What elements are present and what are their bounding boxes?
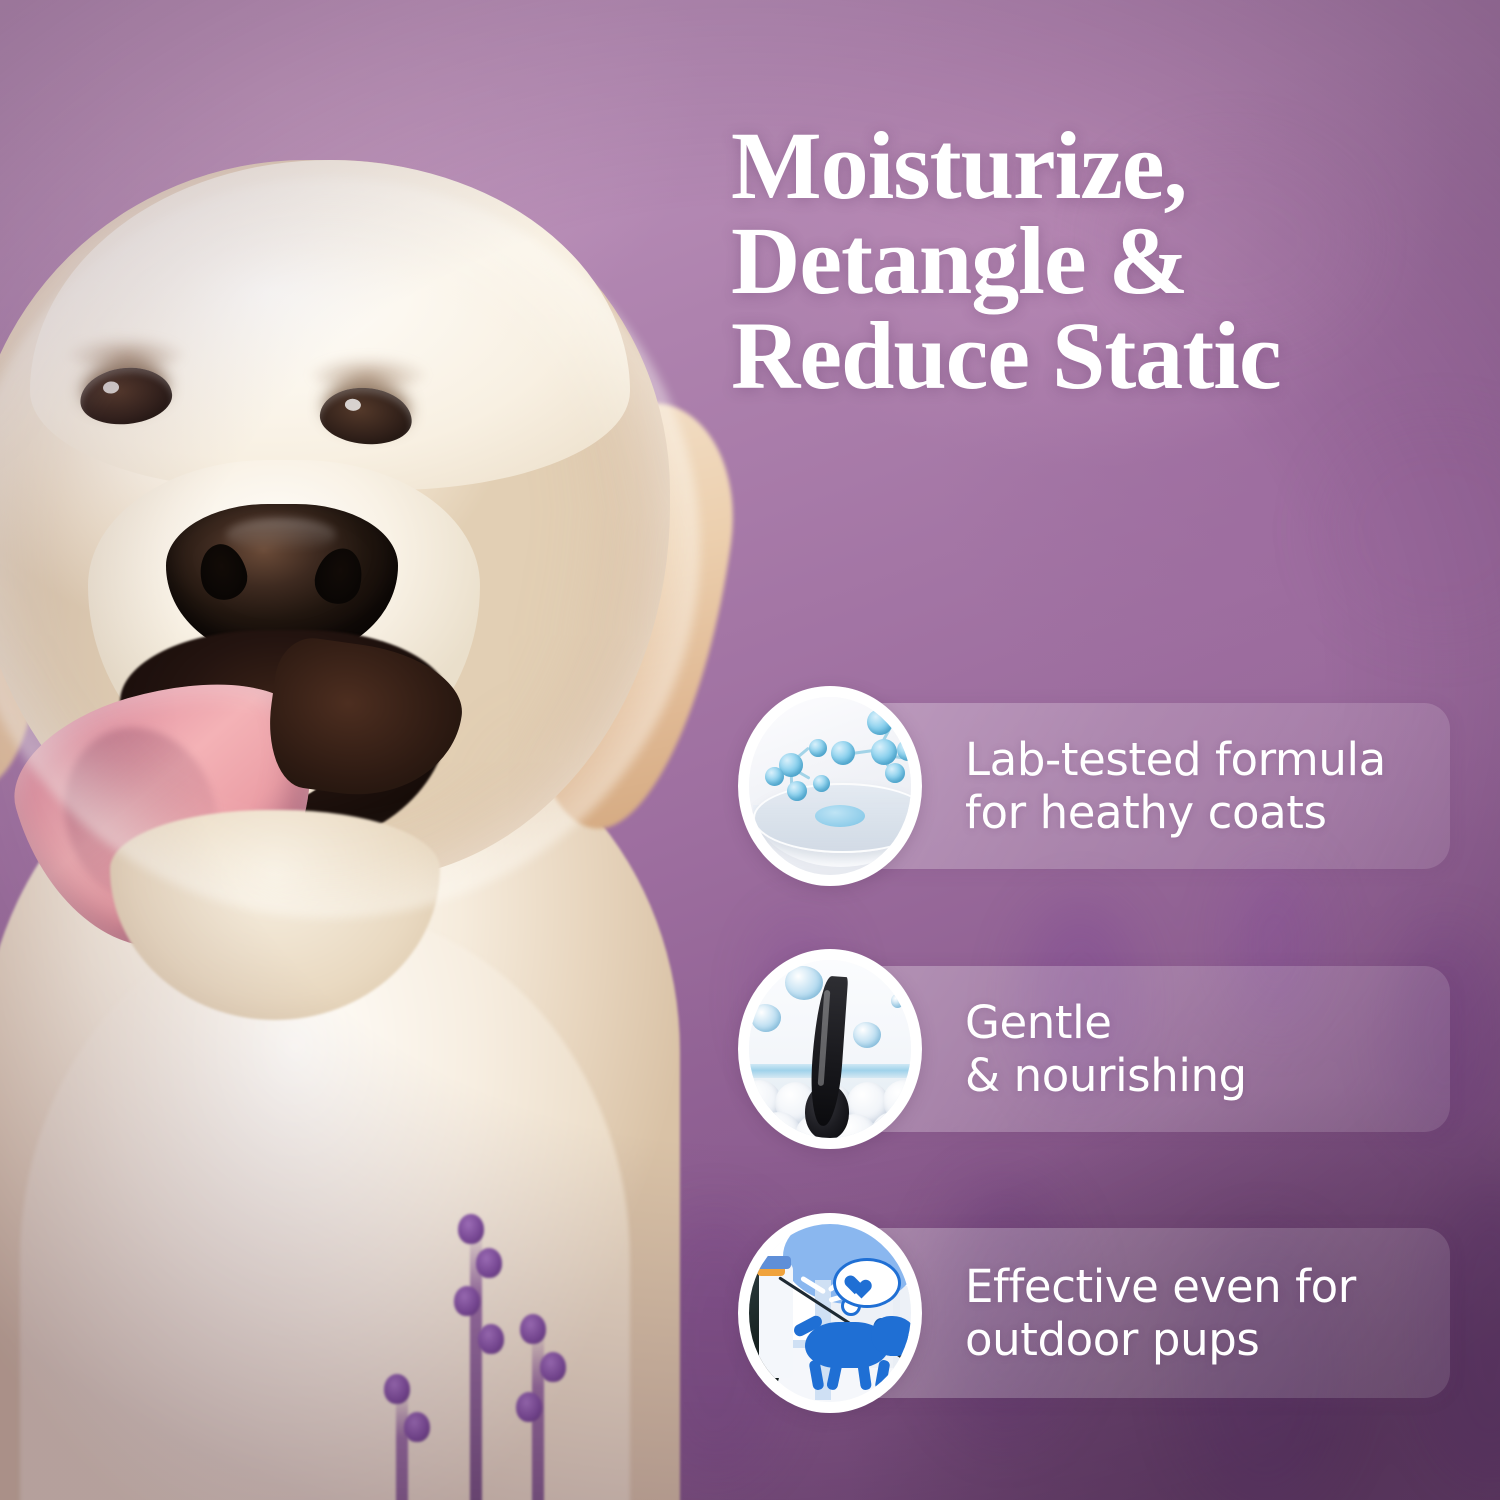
petri-dish-molecule-icon	[738, 686, 922, 886]
headline-line-1: Moisturize,	[731, 118, 1491, 213]
feature-label-line-1: Effective even for	[965, 1260, 1356, 1313]
feature-item-outdoor: Effective even for outdoor pups	[738, 1212, 1450, 1414]
walking-dog-icon	[793, 1316, 911, 1388]
feature-label-outdoor: Effective even for outdoor pups	[965, 1260, 1356, 1366]
headline-line-3: Reduce Static	[731, 308, 1491, 403]
feature-label-line-2: outdoor pups	[965, 1313, 1356, 1366]
molecule-right	[827, 711, 911, 785]
feature-label-line-1: Gentle	[965, 996, 1247, 1049]
feature-item-lab-tested: Lab-tested formula for heathy coats	[738, 685, 1450, 887]
heart-icon	[853, 1272, 875, 1292]
page-title: Moisturize, Detangle & Reduce Static	[731, 118, 1491, 403]
feature-label-lab-tested: Lab-tested formula for heathy coats	[965, 733, 1386, 839]
dog-walking-outdoors-icon	[738, 1213, 922, 1413]
feature-item-gentle: Gentle & nourishing	[738, 948, 1450, 1150]
promo-image: Moisturize, Detangle & Reduce Static	[0, 0, 1500, 1500]
feature-label-line-1: Lab-tested formula	[965, 733, 1386, 786]
hair-follicle-icon	[738, 949, 922, 1149]
feature-label-line-2: & nourishing	[965, 1049, 1247, 1102]
feature-label-line-2: for heathy coats	[965, 786, 1386, 839]
feature-label-gentle: Gentle & nourishing	[965, 996, 1247, 1102]
headline-line-2: Detangle &	[731, 213, 1491, 308]
